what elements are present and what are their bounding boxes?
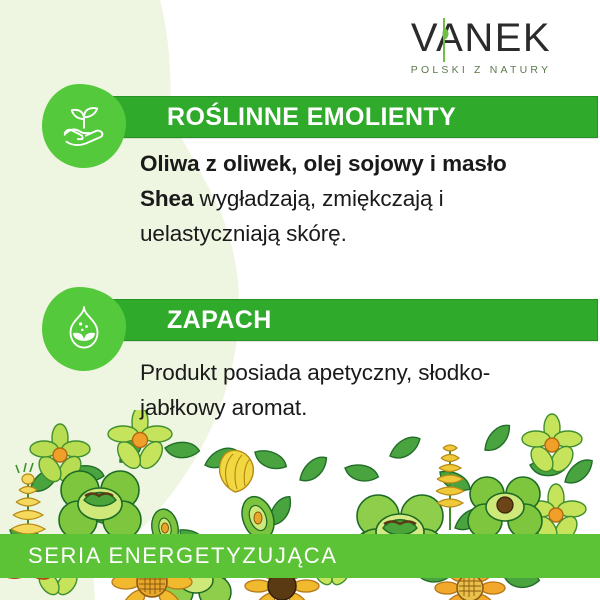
logo-wordmark: VANEK (386, 16, 576, 60)
promo-card: VANEK POLSKI Z NATURY ROŚLINNE EMOLIENTY… (0, 0, 600, 600)
feature-title-bar: ZAPACH (98, 299, 598, 341)
feature-title-bar: ROŚLINNE EMOLIENTY (98, 96, 598, 138)
logo-tagline: POLSKI Z NATURY (386, 64, 576, 76)
feature-body: Produkt posiada apetyczny, słodko-jabłko… (140, 355, 560, 425)
logo-wordmark-text: VANEK (411, 16, 551, 60)
brand-logo: VANEK POLSKI Z NATURY (386, 16, 576, 82)
leaf-icon (437, 18, 451, 62)
feature-title: ROŚLINNE EMOLIENTY (167, 105, 456, 130)
feature-title: ZAPACH (167, 308, 272, 333)
feature-body: Oliwa z oliwek, olej sojowy i masło Shea… (140, 146, 560, 251)
feature-body-rest: Produkt posiada apetyczny, słodko-jabłko… (140, 360, 490, 420)
hand-holding-plant-icon (42, 84, 126, 168)
fragrance-droplet-leaf-icon (42, 287, 126, 371)
series-banner: SERIA ENERGETYZUJĄCA (0, 534, 600, 578)
series-banner-label: SERIA ENERGETYZUJĄCA (28, 543, 338, 569)
